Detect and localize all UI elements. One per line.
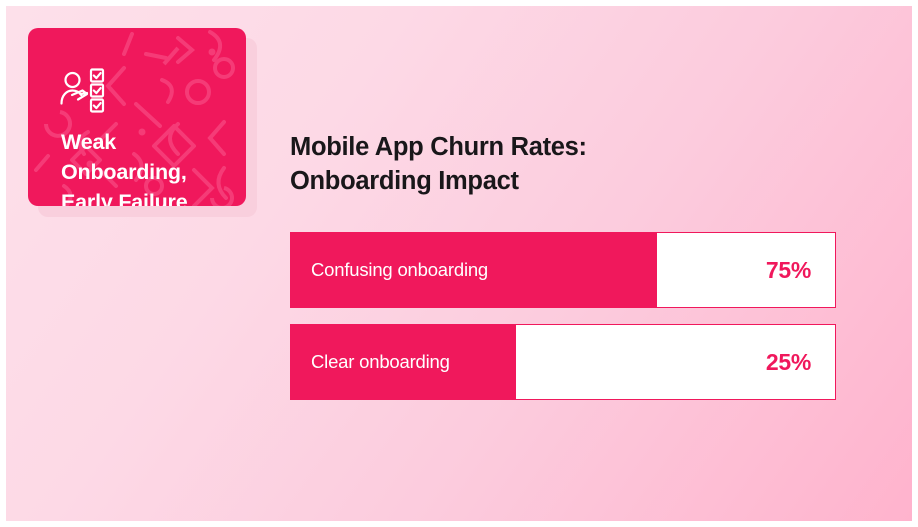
bar-value: 25% <box>766 349 835 376</box>
bar-track-clear-onboarding: 25% <box>516 325 835 399</box>
feature-card-title: Weak Onboarding, Early Failure <box>61 127 239 206</box>
bar-fill-confusing-onboarding: Confusing onboarding <box>291 233 657 307</box>
bar-label: Clear onboarding <box>291 351 450 373</box>
table-row: Clear onboarding 25% <box>290 324 836 400</box>
person-checklist-icon <box>58 68 114 114</box>
infographic-canvas: Weak Onboarding, Early Failure Mobile Ap… <box>6 6 912 521</box>
table-row: Confusing onboarding 75% <box>290 232 836 308</box>
bar-chart: Confusing onboarding 75% Clear onboardin… <box>290 232 836 400</box>
bar-track-confusing-onboarding: 75% <box>657 233 835 307</box>
feature-card: Weak Onboarding, Early Failure <box>28 28 246 206</box>
bar-fill-clear-onboarding: Clear onboarding <box>291 325 516 399</box>
bar-label: Confusing onboarding <box>291 259 488 281</box>
bar-value: 75% <box>766 257 835 284</box>
page-title: Mobile App Churn Rates: Onboarding Impac… <box>290 130 810 198</box>
